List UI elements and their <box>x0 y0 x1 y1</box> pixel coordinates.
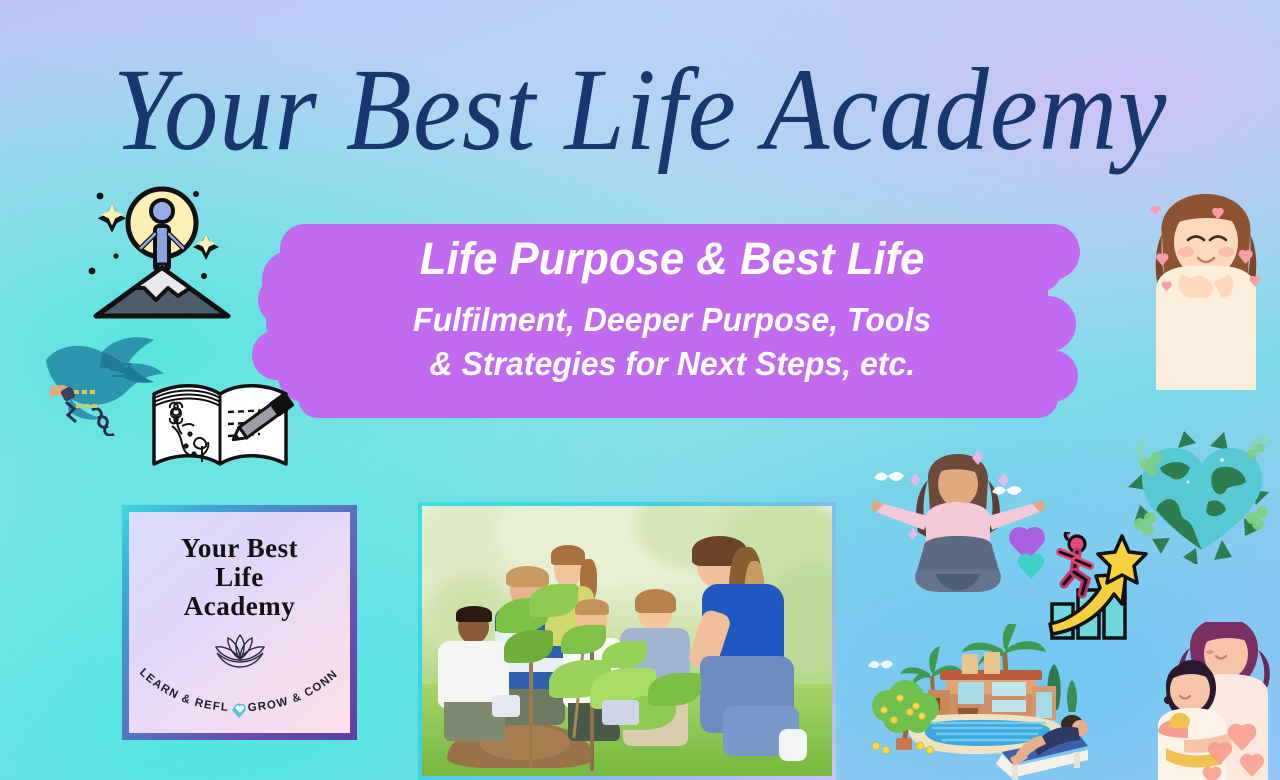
tree-planting-photo <box>418 502 836 780</box>
page-title: Your Best Life Academy <box>51 48 1229 172</box>
academy-logo-card[interactable]: Your Best Life Academy LEARN & REFLEC <box>122 505 357 740</box>
meditating-woman-icon <box>866 446 1056 616</box>
self-love-woman-icon <box>1136 178 1276 390</box>
logo-line-1: Your Best <box>181 533 298 563</box>
banner-subheading-line-2: & Strategies for Next Steps, etc. <box>429 342 915 386</box>
logo-line-2: Life <box>215 562 264 592</box>
banner-subheading-line-1: Fulfilment, Deeper Purpose, Tools <box>413 298 931 342</box>
logo-tagline: LEARN & REFLECT GROW & CONNECT <box>129 663 350 719</box>
mother-and-child-icon <box>1146 622 1278 780</box>
banner-highlight: Life Purpose & Best Life Fulfilment, Dee… <box>252 222 1092 414</box>
luxury-villa-icon <box>866 624 1088 780</box>
logo-line-3: Academy <box>184 591 295 621</box>
mountain-peak-achievement-icon <box>78 176 248 326</box>
logo-tagline-left: LEARN & REFLECT <box>124 654 229 714</box>
svg-text:LEARN & REFLECT: LEARN & REFLECT <box>124 654 229 714</box>
banner-heading: Life Purpose & Best Life <box>420 234 924 284</box>
